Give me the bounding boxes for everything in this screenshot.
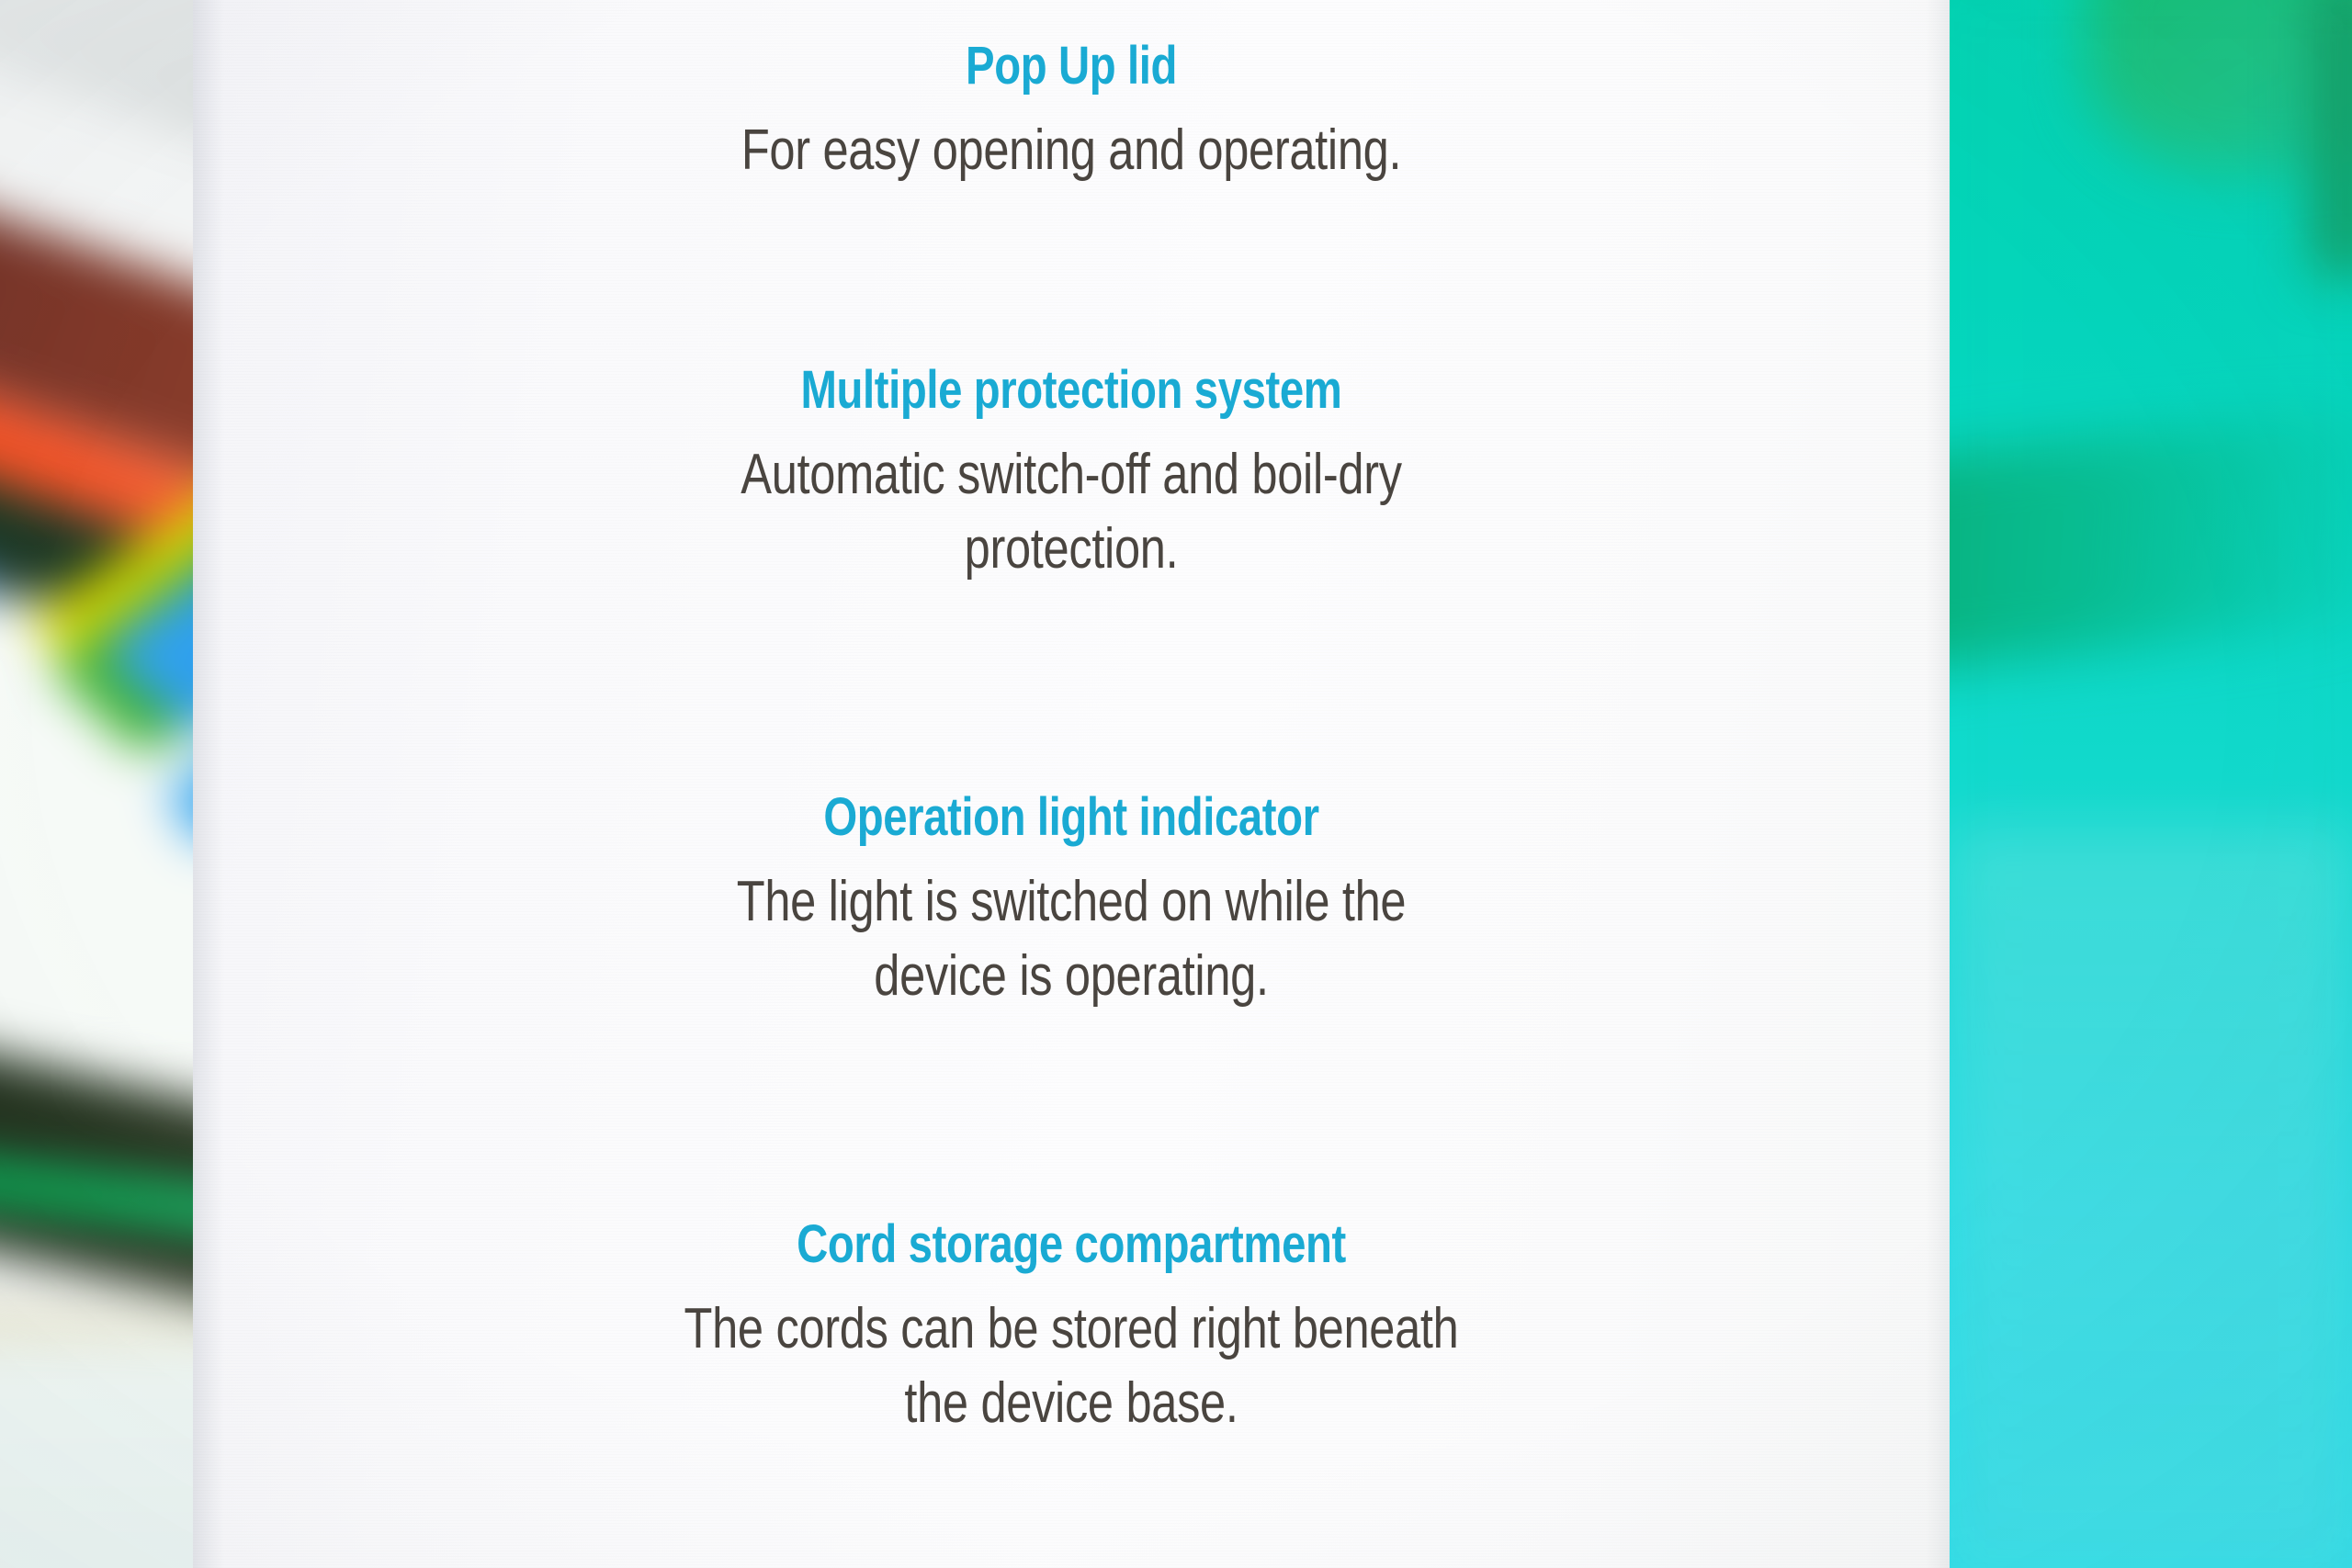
feature-title: Pop Up lid (355, 39, 1788, 94)
packaging-photo: Pop Up lid For easy opening and operatin… (0, 0, 2352, 1568)
feature-block-operation-light-indicator: Operation light indicator The light is s… (193, 790, 1950, 1014)
blur-shape-bottom-pale (0, 1341, 213, 1568)
feature-card: Pop Up lid For easy opening and operatin… (193, 0, 1950, 1568)
feature-block-cord-storage-compartment: Cord storage compartment The cords can b… (193, 1217, 1950, 1441)
feature-description: For easy opening and operating. (355, 94, 1788, 188)
left-background-strip (0, 0, 213, 1568)
feature-description: The light is switched on while thedevice… (355, 845, 1788, 1013)
left-blur-layer (0, 0, 213, 1568)
teal-fabric-texture (1950, 0, 2352, 1568)
feature-description: The cords can be stored right beneaththe… (355, 1272, 1788, 1440)
right-background-strip (1950, 0, 2352, 1568)
feature-block-multiple-protection-system: Multiple protection system Automatic swi… (193, 363, 1950, 587)
feature-title: Operation light indicator (355, 790, 1788, 845)
feature-description: Automatic switch-off and boil-dryprotect… (355, 418, 1788, 586)
feature-title: Multiple protection system (355, 363, 1788, 418)
feature-title: Cord storage compartment (355, 1217, 1788, 1272)
feature-list: Pop Up lid For easy opening and operatin… (193, 0, 1950, 1568)
feature-block-pop-up-lid: Pop Up lid For easy opening and operatin… (193, 39, 1950, 188)
